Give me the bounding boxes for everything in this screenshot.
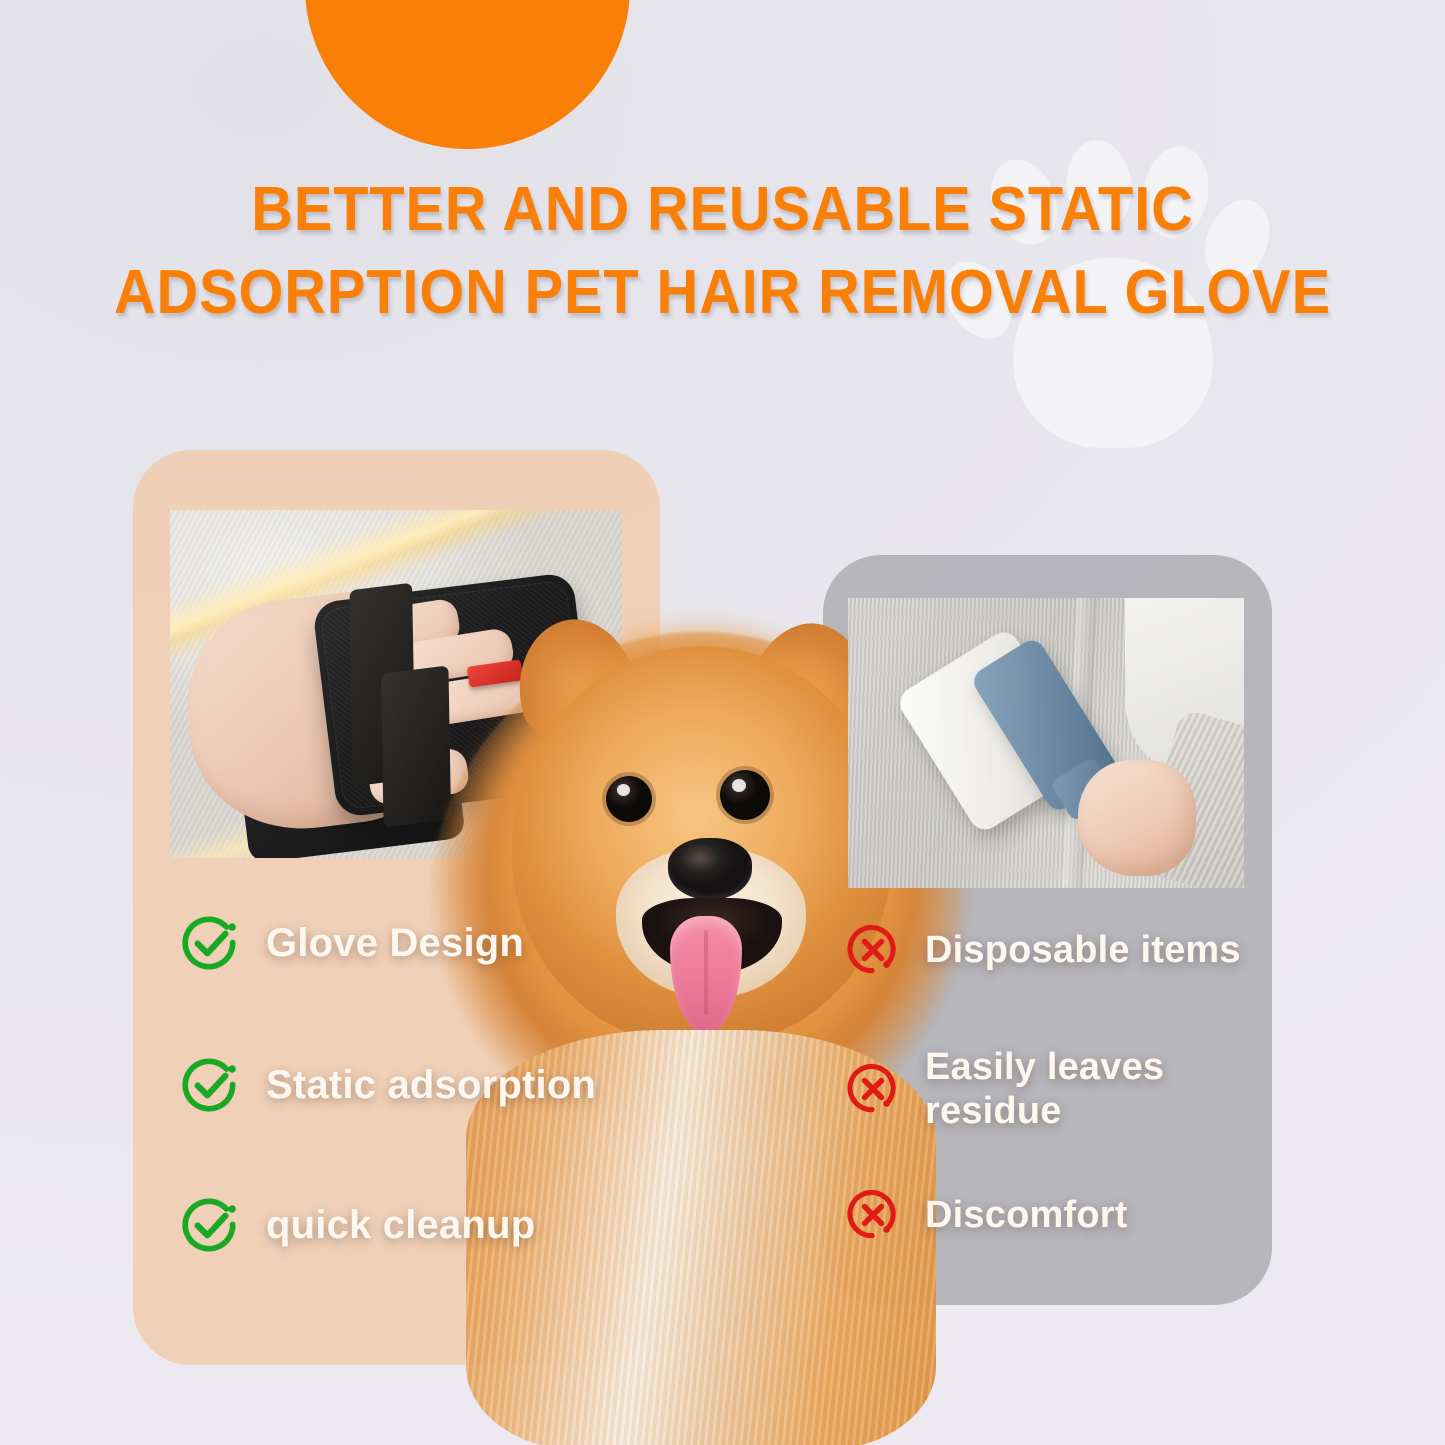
check-circle-icon [178,1192,244,1258]
pros-item-2-label: Static adsorption [266,1062,596,1108]
pros-item-3-label: quick cleanup [266,1202,535,1248]
cons-item-2: Easily leaves residue [843,1045,1164,1133]
cross-circle-icon [843,1185,903,1245]
cons-item-1-label: Disposable items [925,928,1241,972]
cons-item-3: Discomfort [843,1185,1128,1245]
cross-circle-icon [843,1059,903,1119]
infographic-canvas: BETTER AND REUSABLE STATIC ADSORPTION PE… [0,0,1445,1445]
pros-item-3: quick cleanup [178,1192,535,1258]
pros-item-1-label: Glove Design [266,920,524,966]
cons-item-2-label: Easily leaves residue [925,1045,1164,1133]
title-line-2: ADSORPTION PET HAIR REMOVAL GLOVE [51,251,1395,334]
pros-item-1: Glove Design [178,910,524,976]
pros-item-2: Static adsorption [178,1052,596,1118]
page-title: BETTER AND REUSABLE STATIC ADSORPTION PE… [51,168,1395,334]
lint-roller-photo [848,598,1244,888]
cons-item-3-label: Discomfort [925,1193,1128,1237]
cons-item-1: Disposable items [843,920,1241,980]
check-circle-icon [178,910,244,976]
cross-circle-icon [843,920,903,980]
check-circle-icon [178,1052,244,1118]
title-line-1: BETTER AND REUSABLE STATIC [51,168,1395,251]
orange-half-circle-decor [305,0,630,149]
